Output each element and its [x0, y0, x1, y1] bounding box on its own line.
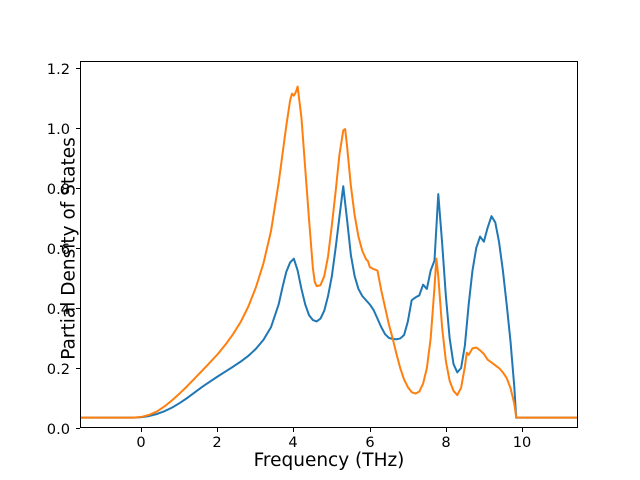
- xtick-label-1: 2: [197, 436, 237, 451]
- xtick-label-3: 6: [350, 436, 390, 451]
- x-axis-label: Frequency (THz): [80, 450, 578, 471]
- figure-canvas: 0.0 0.2 0.4 0.6 0.8 1.0 1.2 0 2 4 6 8 10…: [0, 0, 640, 480]
- plot-lines: [81, 62, 577, 427]
- xtick-label-0: 0: [121, 436, 161, 451]
- plot-area: [80, 61, 578, 428]
- xtick-label-4: 8: [426, 436, 466, 451]
- xtick-mark-5: [522, 428, 523, 432]
- xtick-mark-4: [446, 428, 447, 432]
- xtick-label-5: 10: [502, 436, 542, 451]
- xtick-mark-2: [293, 428, 294, 432]
- xtick-mark-3: [370, 428, 371, 432]
- y-axis-label: Partial Density of States: [59, 49, 80, 449]
- xtick-label-2: 4: [273, 436, 313, 451]
- xtick-mark-0: [141, 428, 142, 432]
- line-series-2: [81, 87, 577, 418]
- xtick-mark-1: [217, 428, 218, 432]
- line-series-1: [81, 186, 577, 417]
